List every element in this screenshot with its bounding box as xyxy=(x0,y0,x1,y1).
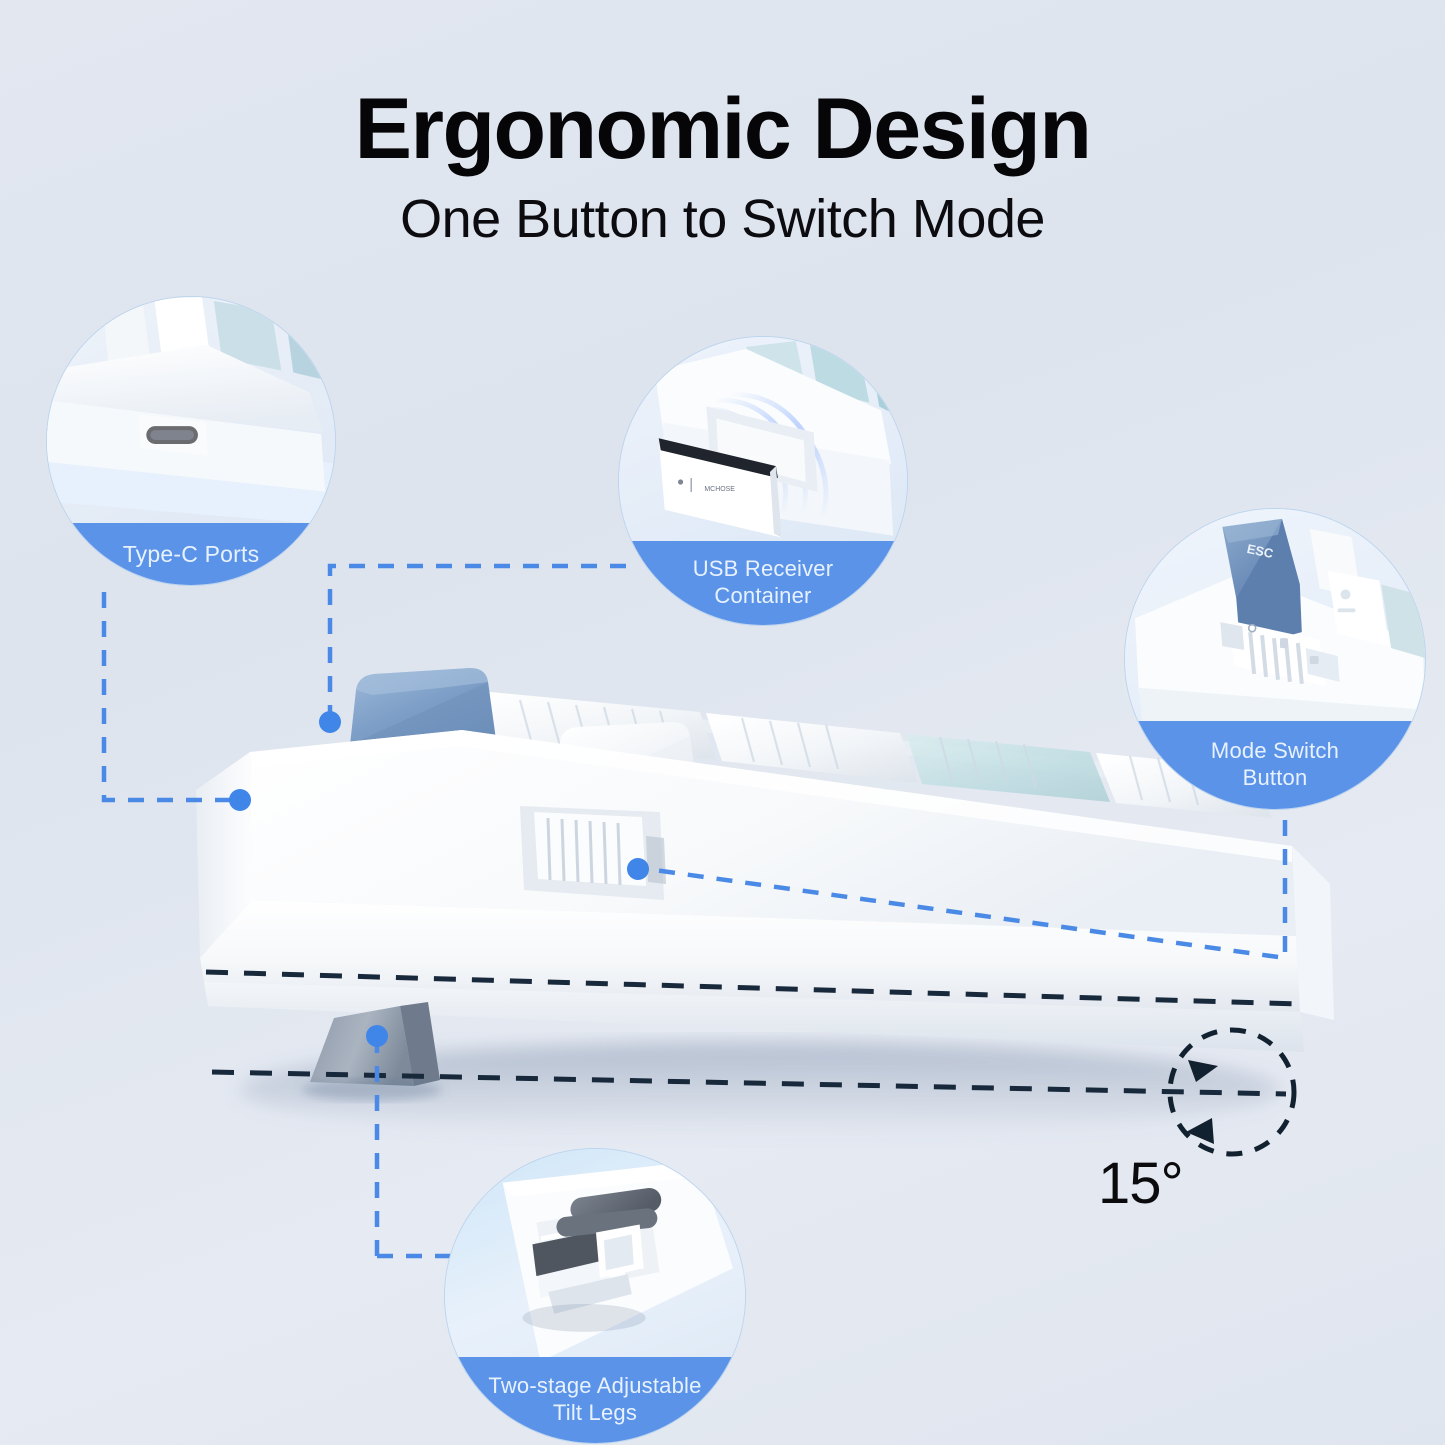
callout-mode-switch-label-line2: Button xyxy=(1243,765,1308,792)
callout-usb-receiver-label-line1: USB Receiver xyxy=(693,556,834,583)
callout-usb-receiver-label: USB Receiver Container xyxy=(619,541,907,625)
connector-endpoint-dots xyxy=(229,711,649,1047)
callout-tilt-legs-label: Two-stage Adjustable Tilt Legs xyxy=(445,1357,745,1443)
callout-type-c-ports[interactable]: Type-C Ports xyxy=(46,296,336,586)
callout-mode-switch-button[interactable]: ESC xyxy=(1124,508,1426,810)
callout-tilt-legs-label-line2: Tilt Legs xyxy=(553,1400,637,1427)
callout-tilt-legs-label-line1: Two-stage Adjustable xyxy=(488,1373,701,1400)
connector-mode-switch xyxy=(640,820,1285,958)
callout-usb-receiver-label-line2: Container xyxy=(714,583,811,610)
callout-usb-receiver-container[interactable]: MCHOSE USB Receiver Container xyxy=(618,336,908,626)
callout-tilt-legs[interactable]: Two-stage Adjustable Tilt Legs xyxy=(444,1148,746,1444)
infographic-root: Ergonomic Design One Button to Switch Mo… xyxy=(0,0,1445,1445)
tilt-angle-label: 15° xyxy=(1098,1150,1183,1217)
connector-usb-receiver xyxy=(330,566,626,718)
callout-mode-switch-label: Mode Switch Button xyxy=(1125,721,1425,809)
usb-receiver-brand-text: MCHOSE xyxy=(704,486,735,493)
callout-type-c-label: Type-C Ports xyxy=(47,523,335,585)
connector-type-c xyxy=(104,592,238,800)
callout-mode-switch-label-line1: Mode Switch xyxy=(1211,738,1339,765)
